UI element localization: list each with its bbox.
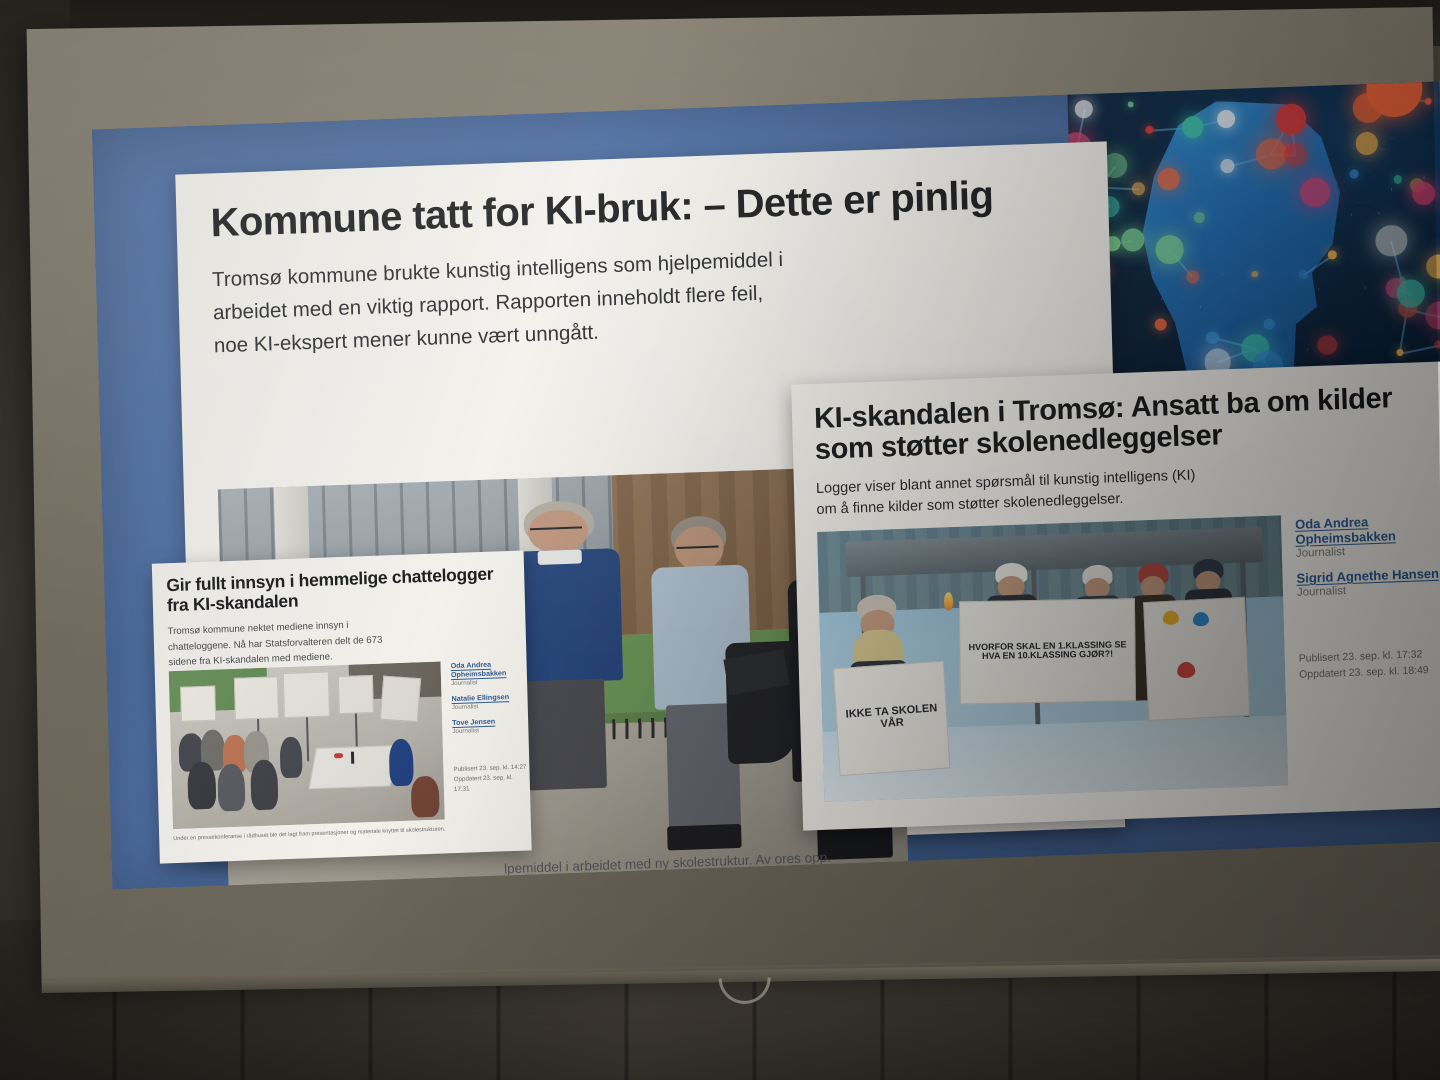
network-node [1426, 254, 1440, 279]
byline-role: Journalist [452, 725, 526, 735]
protest-sign-2: HVORFOR SKAL EN 1.KLASSING SE HVA EN 10.… [959, 598, 1136, 704]
right-byline: Oda Andrea Opheimsbakken Journalist Sigr… [1295, 512, 1440, 684]
network-node [1186, 270, 1199, 283]
room-background: Kommune tatt for KI-bruk: – Dette er pin… [0, 0, 1440, 1080]
network-node [1355, 132, 1378, 155]
school-protest-photo: IKKE TA SKOLEN VÅR HVORFOR SKAL EN 1.KLA… [817, 515, 1288, 802]
network-hexagon [1317, 266, 1367, 311]
byline-role: Journalist [451, 677, 525, 687]
projection-screen: Kommune tatt for KI-bruk: – Dette er pin… [27, 7, 1440, 981]
network-node [1425, 301, 1440, 330]
network-node [1220, 158, 1234, 172]
network-node [1182, 116, 1204, 138]
network-node [1396, 349, 1403, 356]
article-card-right: KI-skandalen i Tromsø: Ansatt ba om kild… [791, 361, 1440, 830]
press-conference-photo [169, 661, 445, 829]
small-updated: Oppdatert 23. sep. kl. 17:31 [454, 772, 528, 794]
ai-brain-network-graphic [1067, 81, 1440, 388]
network-node [1394, 175, 1403, 184]
presentation-slide: Kommune tatt for KI-bruk: – Dette er pin… [92, 81, 1440, 889]
network-node [1251, 271, 1258, 278]
protest-sign-2-text: HVORFOR SKAL EN 1.KLASSING SE HVA EN 10.… [964, 640, 1132, 662]
article-card-small: Gir fullt innsyn i hemmelige chattelogge… [152, 550, 532, 863]
byline-name-oda-andrea-opheimsbakken[interactable]: Oda Andrea Opheimsbakken [451, 658, 525, 679]
byline-name-oda-andrea-opheimsbakken[interactable]: Oda Andrea Opheimsbakken [1295, 512, 1440, 547]
network-node [1193, 212, 1204, 223]
main-ingress: Tromsø kommune brukte kunstig intelligen… [177, 223, 820, 363]
network-node [1317, 335, 1337, 355]
network-node [1375, 224, 1407, 257]
network-node [1397, 279, 1425, 308]
network-node [1154, 318, 1166, 330]
network-node [1145, 126, 1154, 135]
network-link [1400, 345, 1438, 354]
small-ingress: Tromsø kommune nektet mediene innsyn i c… [153, 607, 406, 672]
network-node [1132, 182, 1145, 195]
network-node [1412, 182, 1436, 206]
protest-sign-hearts [1143, 597, 1250, 721]
byline-role: Journalist [452, 701, 526, 711]
network-node [1434, 341, 1440, 349]
small-byline: Oda Andrea Opheimsbakken Journalist Nata… [451, 658, 529, 794]
protest-sign-1-text: IKKE TA SKOLEN VÅR [839, 703, 946, 733]
network-node [1075, 100, 1093, 118]
network-node [1328, 250, 1337, 259]
network-node [1127, 101, 1133, 107]
network-nodes [1067, 81, 1439, 94]
protest-sign-1: IKKE TA SKOLEN VÅR [833, 661, 951, 777]
